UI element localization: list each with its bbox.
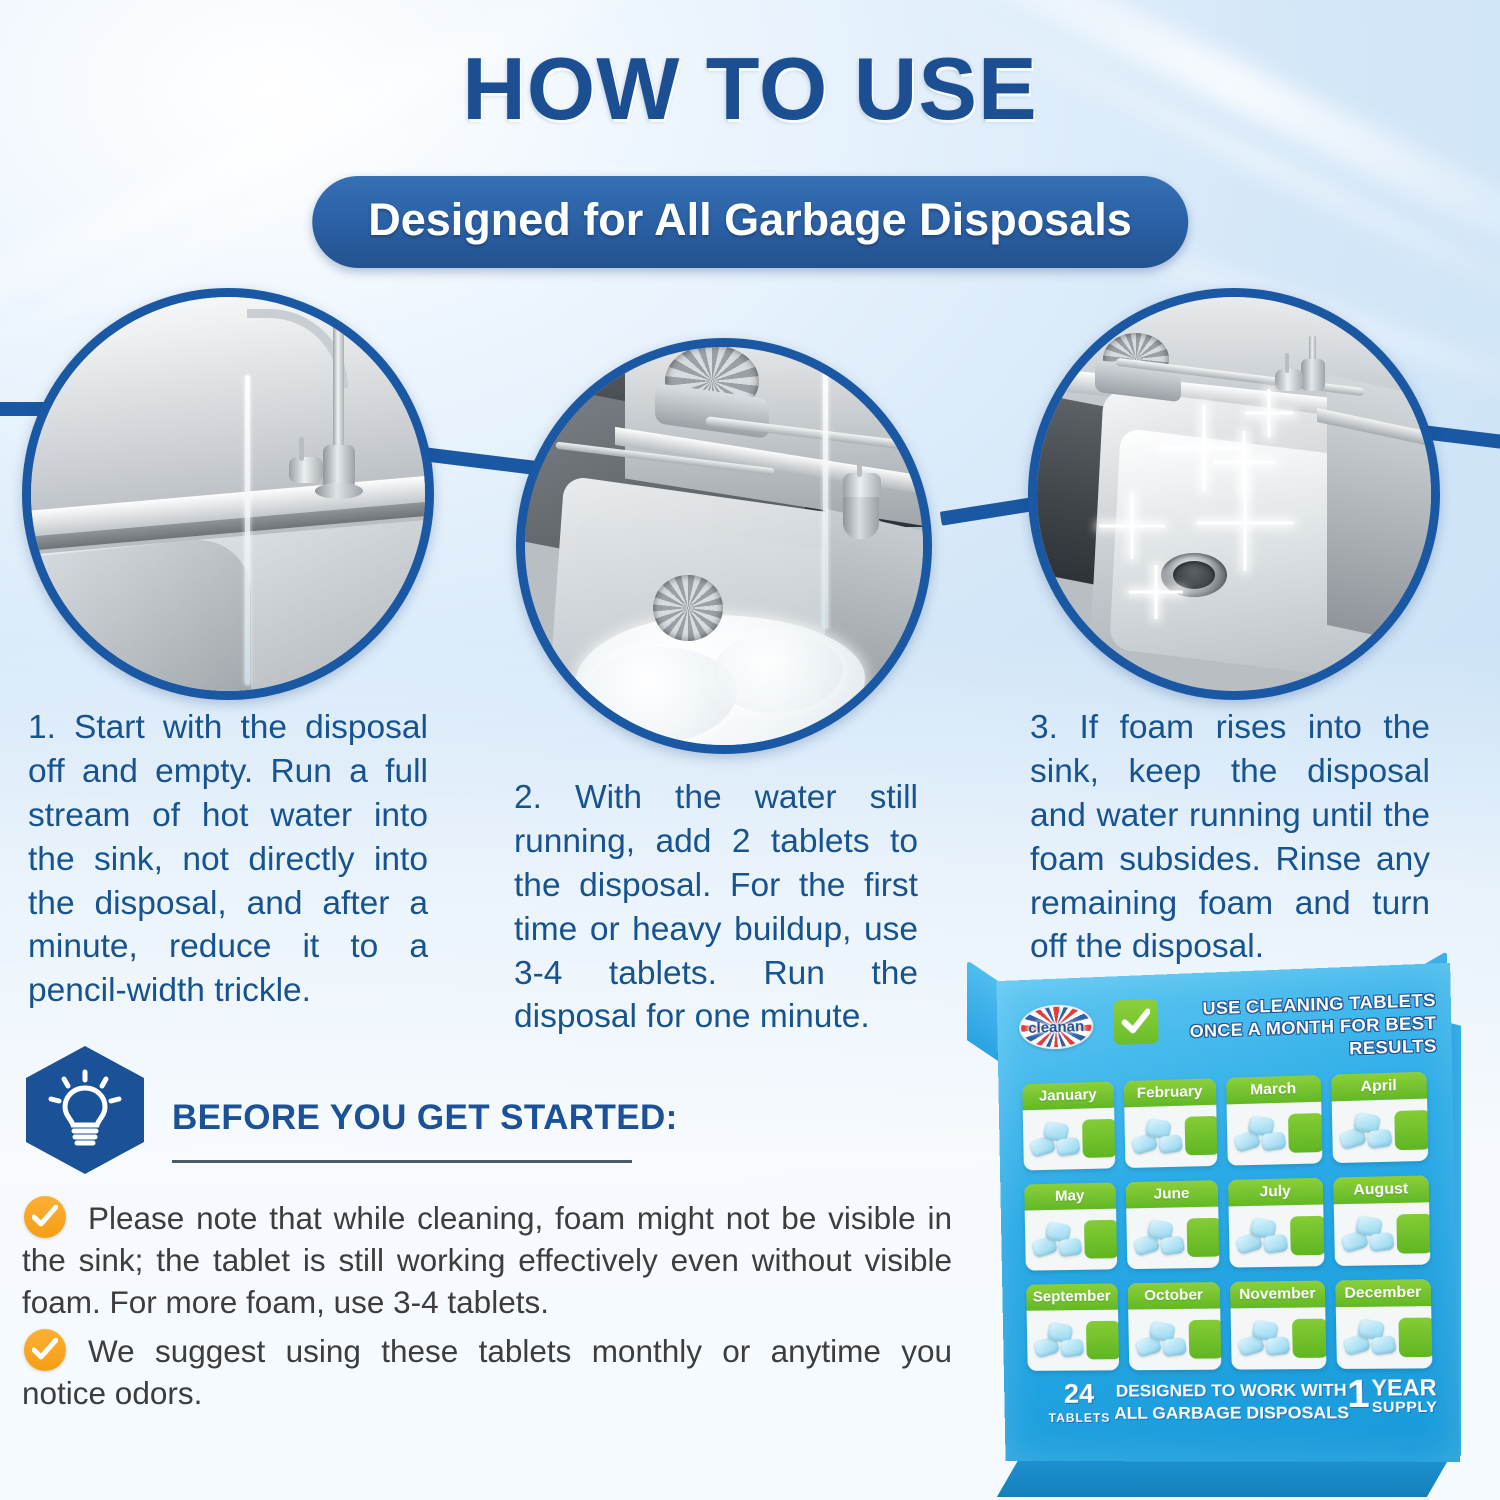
- month-card: November: [1230, 1281, 1326, 1370]
- box-footer-middle: DESIGNED TO WORK WITH ALL GARBAGE DISPOS…: [1114, 1379, 1350, 1425]
- tablet-cluster-icon: [1032, 1216, 1085, 1263]
- subtitle-banner-label: Designed for All Garbage Disposals: [368, 194, 1132, 246]
- month-body: [1331, 1099, 1428, 1163]
- step-1-text: 1. Start with the disposal off and empty…: [28, 706, 428, 1013]
- green-square: [1184, 1116, 1217, 1156]
- supply-year: YEAR: [1371, 1377, 1437, 1400]
- step-2-image: [516, 338, 932, 754]
- lightbulb-icon: [48, 1068, 122, 1152]
- tablet-cluster-icon: [1133, 1214, 1187, 1262]
- tablet-cluster-icon: [1030, 1116, 1083, 1164]
- month-name: June: [1125, 1180, 1218, 1208]
- green-check-icon: [1113, 999, 1159, 1045]
- month-body: [1027, 1310, 1119, 1371]
- month-body: [1124, 1105, 1218, 1168]
- month-name: November: [1230, 1281, 1325, 1309]
- bullet-text-2: We suggest using these tablets monthly o…: [22, 1331, 952, 1415]
- month-card: September: [1026, 1283, 1119, 1370]
- tablet-cluster-icon: [1034, 1317, 1087, 1364]
- month-body: [1335, 1306, 1432, 1369]
- page-title: HOW TO USE: [0, 38, 1500, 140]
- green-square: [1288, 1113, 1322, 1153]
- green-square: [1394, 1110, 1429, 1150]
- box-header: cleanan USE CLEANING TABLETS ONCE A MONT…: [1019, 990, 1437, 1052]
- box-front-panel: cleanan USE CLEANING TABLETS ONCE A MONT…: [996, 963, 1460, 1462]
- month-card: December: [1335, 1279, 1433, 1369]
- month-card: January: [1022, 1081, 1115, 1170]
- tablet-cluster-icon: [1343, 1314, 1399, 1362]
- tablet-cluster-icon: [1341, 1210, 1397, 1258]
- green-square: [1188, 1320, 1221, 1359]
- month-card: February: [1123, 1078, 1217, 1168]
- tablet-cluster-icon: [1131, 1113, 1185, 1161]
- month-card: June: [1125, 1180, 1219, 1269]
- month-body: [1126, 1207, 1220, 1270]
- month-body: [1229, 1204, 1324, 1267]
- month-name: August: [1333, 1175, 1429, 1204]
- box-footer-line2: ALL GARBAGE DISPOSALS: [1114, 1402, 1349, 1425]
- month-body: [1231, 1307, 1326, 1369]
- box-footer: 24 TABLETS DESIGNED TO WORK WITH ALL GAR…: [1024, 1375, 1445, 1436]
- month-name: March: [1226, 1075, 1321, 1104]
- box-headline: USE CLEANING TABLETS ONCE A MONTH FOR BE…: [1170, 988, 1437, 1065]
- month-body: [1025, 1209, 1117, 1271]
- month-name: April: [1331, 1072, 1427, 1102]
- section-divider: [172, 1160, 632, 1163]
- green-square: [1086, 1321, 1119, 1360]
- month-name: September: [1026, 1283, 1117, 1310]
- check-icon: [1121, 1008, 1150, 1035]
- product-box: cleanan USE CLEANING TABLETS ONCE A MONT…: [955, 955, 1500, 1500]
- month-card: August: [1333, 1175, 1431, 1266]
- green-square: [1082, 1119, 1115, 1158]
- month-name: January: [1022, 1081, 1113, 1110]
- box-footer-line1: DESIGNED TO WORK WITH: [1114, 1379, 1349, 1403]
- month-name: May: [1024, 1182, 1115, 1210]
- disposal-drain-icon: [653, 575, 723, 641]
- brand-logo: cleanan: [1019, 1003, 1094, 1050]
- box-headline-line2: ONCE A MONTH FOR BEST RESULTS: [1170, 1011, 1436, 1065]
- tablet-cluster-icon: [1234, 1110, 1289, 1158]
- month-card: July: [1228, 1178, 1324, 1268]
- before-you-start-heading: BEFORE YOU GET STARTED:: [172, 1098, 678, 1138]
- month-name: February: [1123, 1078, 1216, 1107]
- step-3-image: [1028, 288, 1440, 700]
- month-name: December: [1335, 1279, 1431, 1307]
- infographic-canvas: HOW TO USE Designed for All Garbage Disp…: [0, 0, 1500, 1500]
- green-square: [1186, 1218, 1219, 1257]
- tablet-cluster-icon: [1236, 1212, 1291, 1260]
- tablet-count-number: 24: [1048, 1380, 1110, 1407]
- step-3-text: 3. If foam rises into the sink, keep the…: [1030, 706, 1430, 969]
- green-square: [1398, 1317, 1433, 1357]
- month-card: April: [1331, 1072, 1429, 1163]
- month-body: [1333, 1202, 1430, 1266]
- supply-number: 1: [1347, 1377, 1370, 1412]
- subtitle-banner: Designed for All Garbage Disposals: [312, 176, 1188, 268]
- tablet-count: 24 TABLETS: [1048, 1380, 1111, 1425]
- month-name: October: [1127, 1282, 1220, 1310]
- tablet-count-label: TABLETS: [1048, 1411, 1110, 1425]
- tablet-cluster-icon: [1339, 1107, 1395, 1156]
- supply-label: SUPPLY: [1372, 1399, 1438, 1416]
- month-body: [1023, 1108, 1115, 1171]
- step-1-image: [22, 288, 434, 700]
- green-square: [1396, 1214, 1431, 1254]
- month-body: [1227, 1102, 1322, 1166]
- green-square: [1290, 1216, 1324, 1256]
- month-card: March: [1226, 1075, 1322, 1166]
- step-2-text: 2. With the water still running, add 2 t…: [514, 776, 918, 1039]
- brand-name: cleanan: [1028, 1017, 1084, 1036]
- month-name: July: [1228, 1178, 1323, 1207]
- month-card: October: [1127, 1282, 1221, 1370]
- month-body: [1128, 1309, 1222, 1371]
- tablet-cluster-icon: [1135, 1316, 1189, 1363]
- month-calendar-grid: JanuaryFebruaryMarchAprilMayJuneJulyAugu…: [1022, 1072, 1432, 1371]
- tablet-cluster-icon: [1238, 1315, 1293, 1363]
- month-card: May: [1024, 1182, 1117, 1270]
- supply-badge: 1 YEAR SUPPLY: [1347, 1377, 1438, 1417]
- green-square: [1084, 1220, 1117, 1259]
- bullet-text-1: Please note that while cleaning, foam mi…: [22, 1198, 952, 1324]
- green-square: [1292, 1319, 1326, 1358]
